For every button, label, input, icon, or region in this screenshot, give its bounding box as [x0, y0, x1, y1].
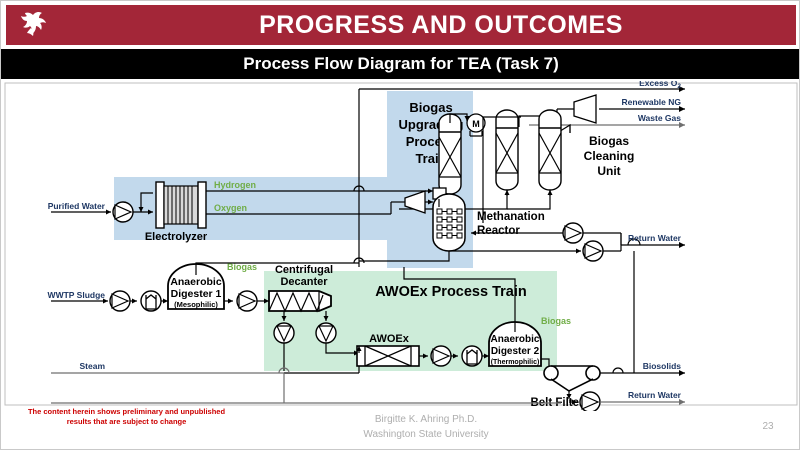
page-title: PROGRESS AND OUTCOMES	[91, 5, 791, 45]
decanter-feed-pump-icon	[237, 291, 257, 311]
stream-label-biogas-ad1: Biogas	[227, 262, 257, 272]
stream-label-purified-water: Purified Water	[48, 201, 106, 211]
stream-label-wwtp-sludge: WWTP Sludge	[48, 290, 106, 300]
svg-text:(Mesophilic): (Mesophilic)	[174, 300, 218, 309]
svg-text:(Thermophilic): (Thermophilic)	[491, 359, 540, 366]
stream-label-biosolids: Biosolids	[643, 361, 682, 371]
cleaning-column-2	[539, 110, 561, 190]
awoex-outlet-pump-icon	[431, 346, 451, 366]
centrifugal-decanter	[269, 291, 331, 311]
decanter-valve-left-icon	[274, 323, 294, 343]
label-biogas-cleaning-unit: Biogas Cleaning Unit	[584, 134, 635, 178]
disclaimer-line-1: The content herein shows preliminary and…	[19, 407, 234, 417]
zone-label-awoex-train: AWOEx Process Train	[375, 284, 527, 300]
wsu-cougar-logo	[11, 7, 73, 43]
svg-text:Cleaning: Cleaning	[584, 149, 635, 163]
stream-label-oxygen: Oxygen	[214, 203, 247, 213]
return-water-pump-2-icon	[583, 241, 603, 261]
svg-text:Reactor: Reactor	[477, 225, 520, 237]
svg-text:M: M	[472, 119, 480, 129]
cleaning-column-3	[439, 114, 461, 194]
sludge-pump-icon	[110, 291, 130, 311]
process-flow-diagram: Biogas Upgrading Process Train AWOEx Pro…	[1, 81, 800, 411]
stream-label-hydrogen: Hydrogen	[214, 180, 256, 190]
svg-text:Decanter: Decanter	[280, 276, 328, 288]
svg-text:Anaerobic: Anaerobic	[491, 334, 540, 345]
svg-text:Digester 2: Digester 2	[491, 346, 540, 357]
svg-text:Unit: Unit	[597, 164, 620, 178]
belt-filter-return-pump-icon	[580, 392, 600, 411]
ad2-feed-heater-icon	[462, 346, 482, 366]
belt-filter	[544, 366, 600, 391]
disclaimer-line-2: results that are subject to change	[19, 417, 234, 427]
sludge-heater-icon	[141, 291, 161, 311]
page-number: 23	[753, 421, 783, 432]
stream-label-renewable-ng: Renewable NG	[621, 97, 681, 107]
credit-line-1: Birgitte K. Ahring Ph.D.	[301, 413, 551, 428]
cleaning-column-1	[496, 110, 518, 190]
svg-text:Methanation: Methanation	[477, 211, 545, 223]
label-anaerobic-digester-2: Anaerobic Digester 2 (Thermophilic)	[491, 334, 540, 366]
credit-line-2: Washington State University	[301, 428, 551, 443]
label-centrifugal-decanter: Centrifugal Decanter	[275, 264, 333, 288]
svg-text:Biogas: Biogas	[589, 134, 629, 148]
slide-root: PROGRESS AND OUTCOMES Process Flow Diagr…	[0, 0, 800, 450]
svg-text:Centrifugal: Centrifugal	[275, 264, 333, 276]
decanter-valve-right-icon	[316, 323, 336, 343]
svg-text:Digester 1: Digester 1	[171, 288, 222, 300]
svg-text:Anaerobic: Anaerobic	[170, 276, 222, 288]
stream-label-return-water-top: Return Water	[628, 233, 682, 243]
label-awoex-unit: AWOEx	[369, 333, 410, 345]
label-anaerobic-digester-1: Anaerobic Digester 1 (Mesophilic)	[170, 276, 222, 309]
methanation-reactor	[433, 188, 465, 251]
stream-label-return-water-bottom: Return Water	[628, 390, 682, 400]
stream-label-waste-gas: Waste Gas	[638, 113, 681, 123]
ng-compressor-icon	[574, 95, 596, 123]
disclaimer-text: The content herein shows preliminary and…	[19, 407, 234, 427]
subtitle-text: Process Flow Diagram for TEA (Task 7)	[1, 49, 800, 79]
stream-label-biogas-ad2: Biogas	[541, 316, 571, 326]
electrolyzer-unit	[156, 182, 206, 228]
presenter-credit: Birgitte K. Ahring Ph.D. Washington Stat…	[301, 413, 551, 442]
stream-label-steam: Steam	[79, 361, 105, 371]
cleaning-unit-motor-icon: M	[467, 114, 485, 136]
awoex-unit	[357, 346, 419, 366]
purified-water-pump-icon	[113, 202, 133, 222]
return-water-pump-1-icon	[563, 223, 583, 243]
label-electrolyzer: Electrolyzer	[145, 231, 208, 243]
svg-text:Biogas: Biogas	[409, 100, 452, 115]
